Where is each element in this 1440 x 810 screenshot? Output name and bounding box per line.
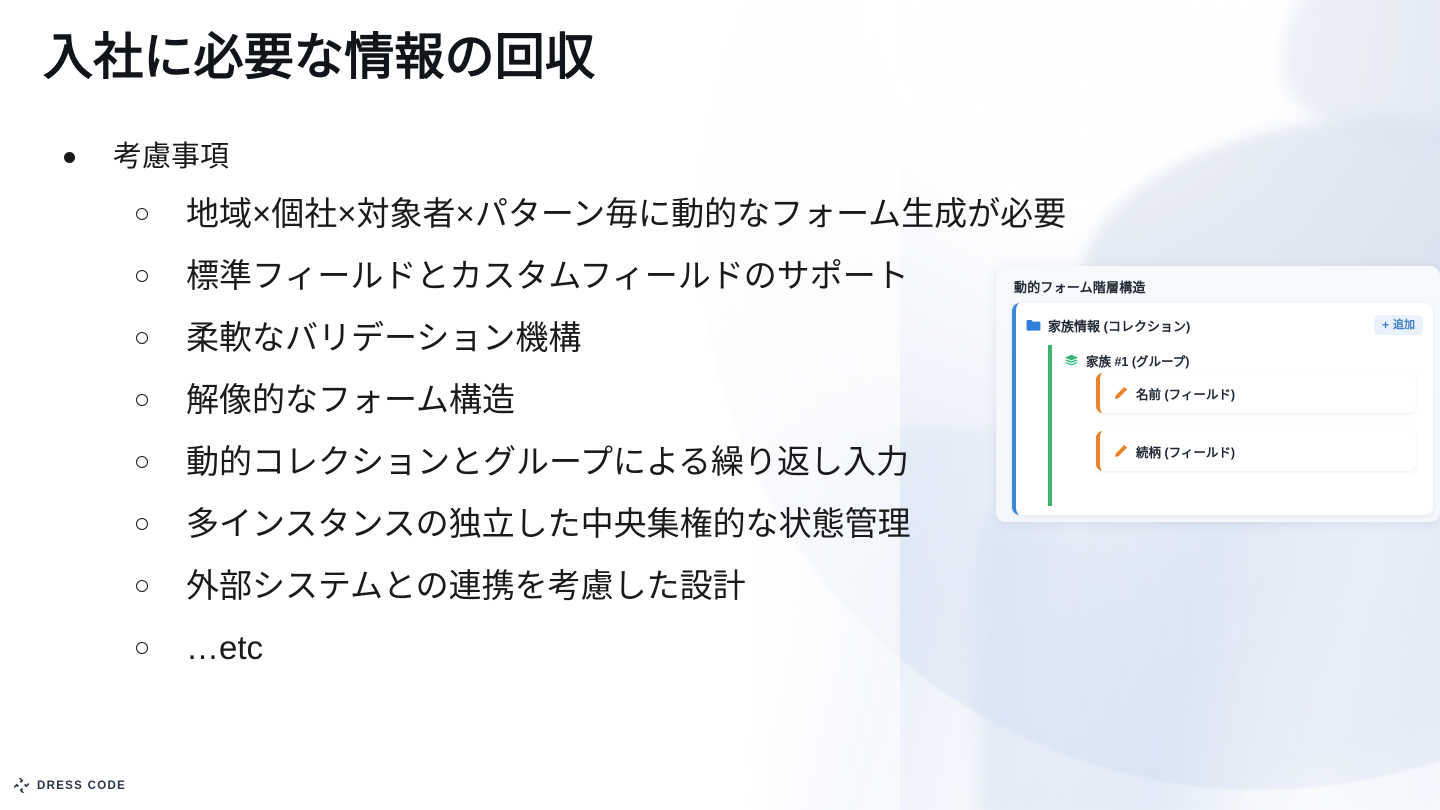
list-item: 柔軟なバリデーション機構: [48, 316, 1008, 378]
bullet-hollow-dot-icon: [125, 316, 159, 360]
list-item: 解像的なフォーム構造: [48, 378, 1008, 440]
list-item: 地域×個社×対象者×パターン毎に動的なフォーム生成が必要: [48, 192, 1008, 254]
collection-node[interactable]: 家族情報 (コレクション) + 追加 家族 #1: [1012, 303, 1433, 515]
field-node[interactable]: 続柄 (フィールド): [1096, 431, 1416, 471]
bullet-hollow-dot-icon: [125, 626, 159, 670]
add-button-label: 追加: [1393, 320, 1415, 331]
bullet-filled-dot-icon: [52, 138, 86, 176]
dynamic-form-hierarchy-card: 動的フォーム階層構造 家族情報 (コレクション) + 追加: [996, 266, 1440, 522]
bullet-hollow-dot-icon: [125, 502, 159, 546]
bullet-hollow-dot-icon: [125, 254, 159, 298]
field-label: 続柄 (フィールド): [1136, 442, 1235, 461]
bullet-list: 考慮事項 地域×個社×対象者×パターン毎に動的なフォーム生成が必要 標準フィール…: [48, 138, 1008, 688]
plus-icon: +: [1382, 319, 1389, 331]
bullet-hollow-dot-icon: [125, 564, 159, 608]
group-node[interactable]: 家族 #1 (グループ) 名前 (フィールド): [1048, 345, 1424, 506]
folder-icon: [1026, 319, 1041, 332]
list-item-label: 解像的なフォーム構造: [186, 378, 515, 422]
field-label: 名前 (フィールド): [1136, 384, 1235, 403]
list-item-label: 多インスタンスの独立した中央集権的な状態管理: [186, 502, 911, 546]
list-item: …etc: [48, 626, 1008, 688]
list-item: 多インスタンスの独立した中央集権的な状態管理: [48, 502, 1008, 564]
slide: 入社に必要な情報の回収 考慮事項 地域×個社×対象者×パターン毎に動的なフォーム…: [0, 0, 1440, 810]
bullet-hollow-dot-icon: [125, 192, 159, 236]
group-label: 家族 #1 (グループ): [1086, 351, 1189, 370]
pencil-icon: [1114, 386, 1128, 400]
list-item: 標準フィールドとカスタムフィールドのサポート: [48, 254, 1008, 316]
background-streak-secondary: [980, 520, 1440, 810]
add-collection-item-button[interactable]: + 追加: [1374, 315, 1423, 335]
list-item: 考慮事項: [48, 138, 1008, 192]
bullet-hollow-dot-icon: [125, 378, 159, 422]
footer-logo: DRESS CODE: [13, 777, 126, 794]
collection-label-group: 家族情報 (コレクション): [1026, 316, 1190, 335]
pencil-icon: [1114, 444, 1128, 458]
dresscode-pinwheel-icon: [13, 777, 30, 794]
collection-label: 家族情報 (コレクション): [1048, 316, 1190, 335]
list-item-label: …etc: [186, 626, 263, 670]
list-item: 動的コレクションとグループによる繰り返し入力: [48, 440, 1008, 502]
bullet-hollow-dot-icon: [125, 440, 159, 484]
list-item-label: 動的コレクションとグループによる繰り返し入力: [186, 440, 909, 484]
list-item-label: 標準フィールドとカスタムフィールドのサポート: [186, 254, 909, 298]
list-item-label: 柔軟なバリデーション機構: [186, 316, 581, 360]
collection-header: 家族情報 (コレクション) + 追加: [1026, 315, 1423, 335]
field-node[interactable]: 名前 (フィールド): [1096, 373, 1416, 413]
layers-icon: [1064, 354, 1079, 367]
group-label-group: 家族 #1 (グループ): [1064, 351, 1189, 370]
footer-logo-text: DRESS CODE: [37, 780, 126, 792]
page-title: 入社に必要な情報の回収: [43, 27, 595, 88]
list-item-label: 外部システムとの連携を考慮した設計: [186, 564, 746, 608]
list-item-label: 考慮事項: [113, 138, 229, 176]
list-item-label: 地域×個社×対象者×パターン毎に動的なフォーム生成が必要: [186, 192, 1066, 236]
list-item: 外部システムとの連携を考慮した設計: [48, 564, 1008, 626]
card-title: 動的フォーム階層構造: [1014, 277, 1146, 296]
